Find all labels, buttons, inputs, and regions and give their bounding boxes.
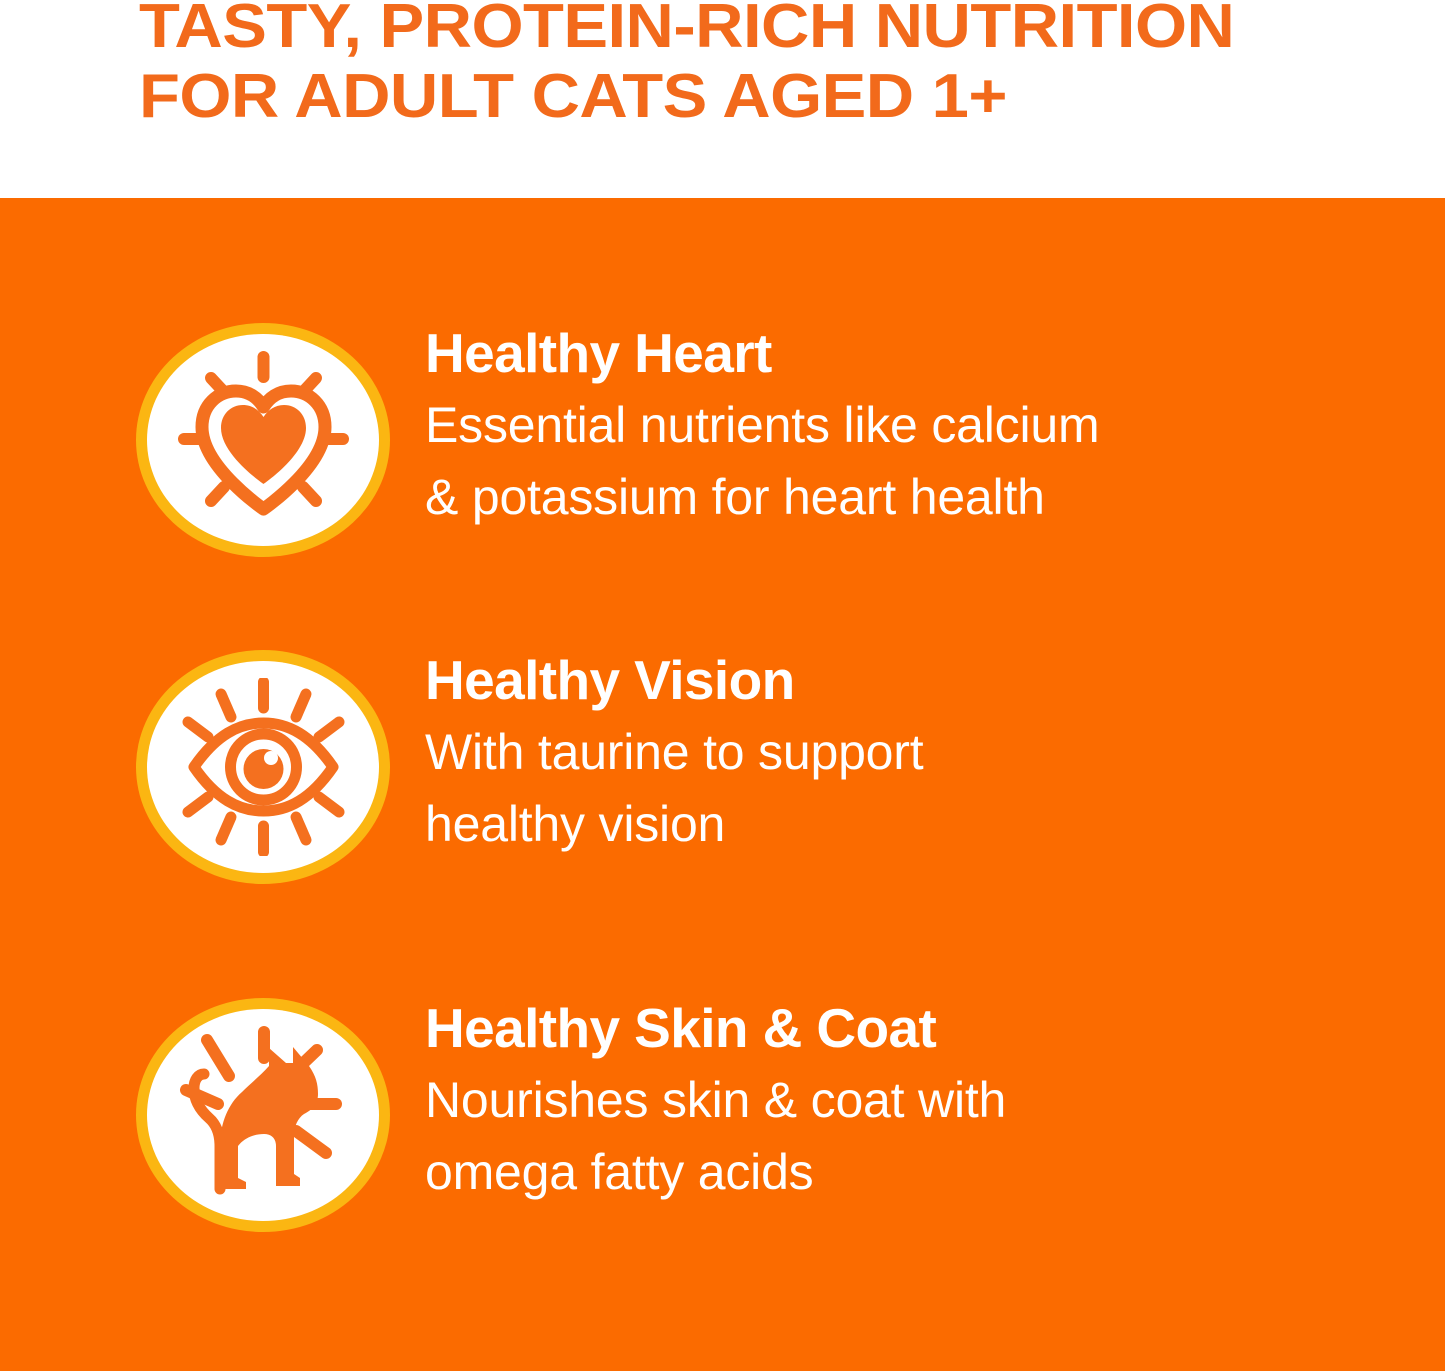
benefit-description: Essential nutrients like calcium & potas…: [425, 389, 1375, 533]
benefit-text-block: Healthy Vision With taurine to support h…: [425, 650, 1375, 860]
cat-rays-icon: [176, 1026, 351, 1204]
benefit-description-line-2: healthy vision: [425, 788, 1375, 860]
benefit-title: Healthy Skin & Coat: [425, 998, 1375, 1058]
benefit-description: Nourishes skin & coat with omega fatty a…: [425, 1064, 1375, 1208]
headline-line-1: TASTY, PROTEIN-RICH NUTRITION: [139, 0, 1445, 58]
benefit-description-line-1: With taurine to support: [425, 716, 1375, 788]
infographic-page: TASTY, PROTEIN-RICH NUTRITION FOR ADULT …: [0, 0, 1445, 1371]
icon-badge-eye: [136, 650, 390, 884]
benefit-description-line-2: omega fatty acids: [425, 1136, 1375, 1208]
benefits-panel: Healthy Heart Essential nutrients like c…: [0, 198, 1445, 1371]
benefit-text-block: Healthy Heart Essential nutrients like c…: [425, 323, 1375, 533]
heart-rays-icon: [176, 351, 351, 529]
benefit-description: With taurine to support healthy vision: [425, 716, 1375, 860]
benefit-text-block: Healthy Skin & Coat Nourishes skin & coa…: [425, 998, 1375, 1208]
benefit-title: Healthy Heart: [425, 323, 1375, 383]
benefit-title: Healthy Vision: [425, 650, 1375, 710]
headline-band: TASTY, PROTEIN-RICH NUTRITION FOR ADULT …: [0, 0, 1445, 198]
page-title: TASTY, PROTEIN-RICH NUTRITION FOR ADULT …: [139, 0, 1445, 128]
benefit-description-line-2: & potassium for heart health: [425, 461, 1375, 533]
eye-rays-icon: [176, 678, 351, 856]
icon-badge-heart: [136, 323, 390, 557]
benefit-description-line-1: Nourishes skin & coat with: [425, 1064, 1375, 1136]
benefit-description-line-1: Essential nutrients like calcium: [425, 389, 1375, 461]
headline-line-2: FOR ADULT CATS AGED 1+: [139, 66, 1445, 128]
icon-badge-cat: [136, 998, 390, 1232]
